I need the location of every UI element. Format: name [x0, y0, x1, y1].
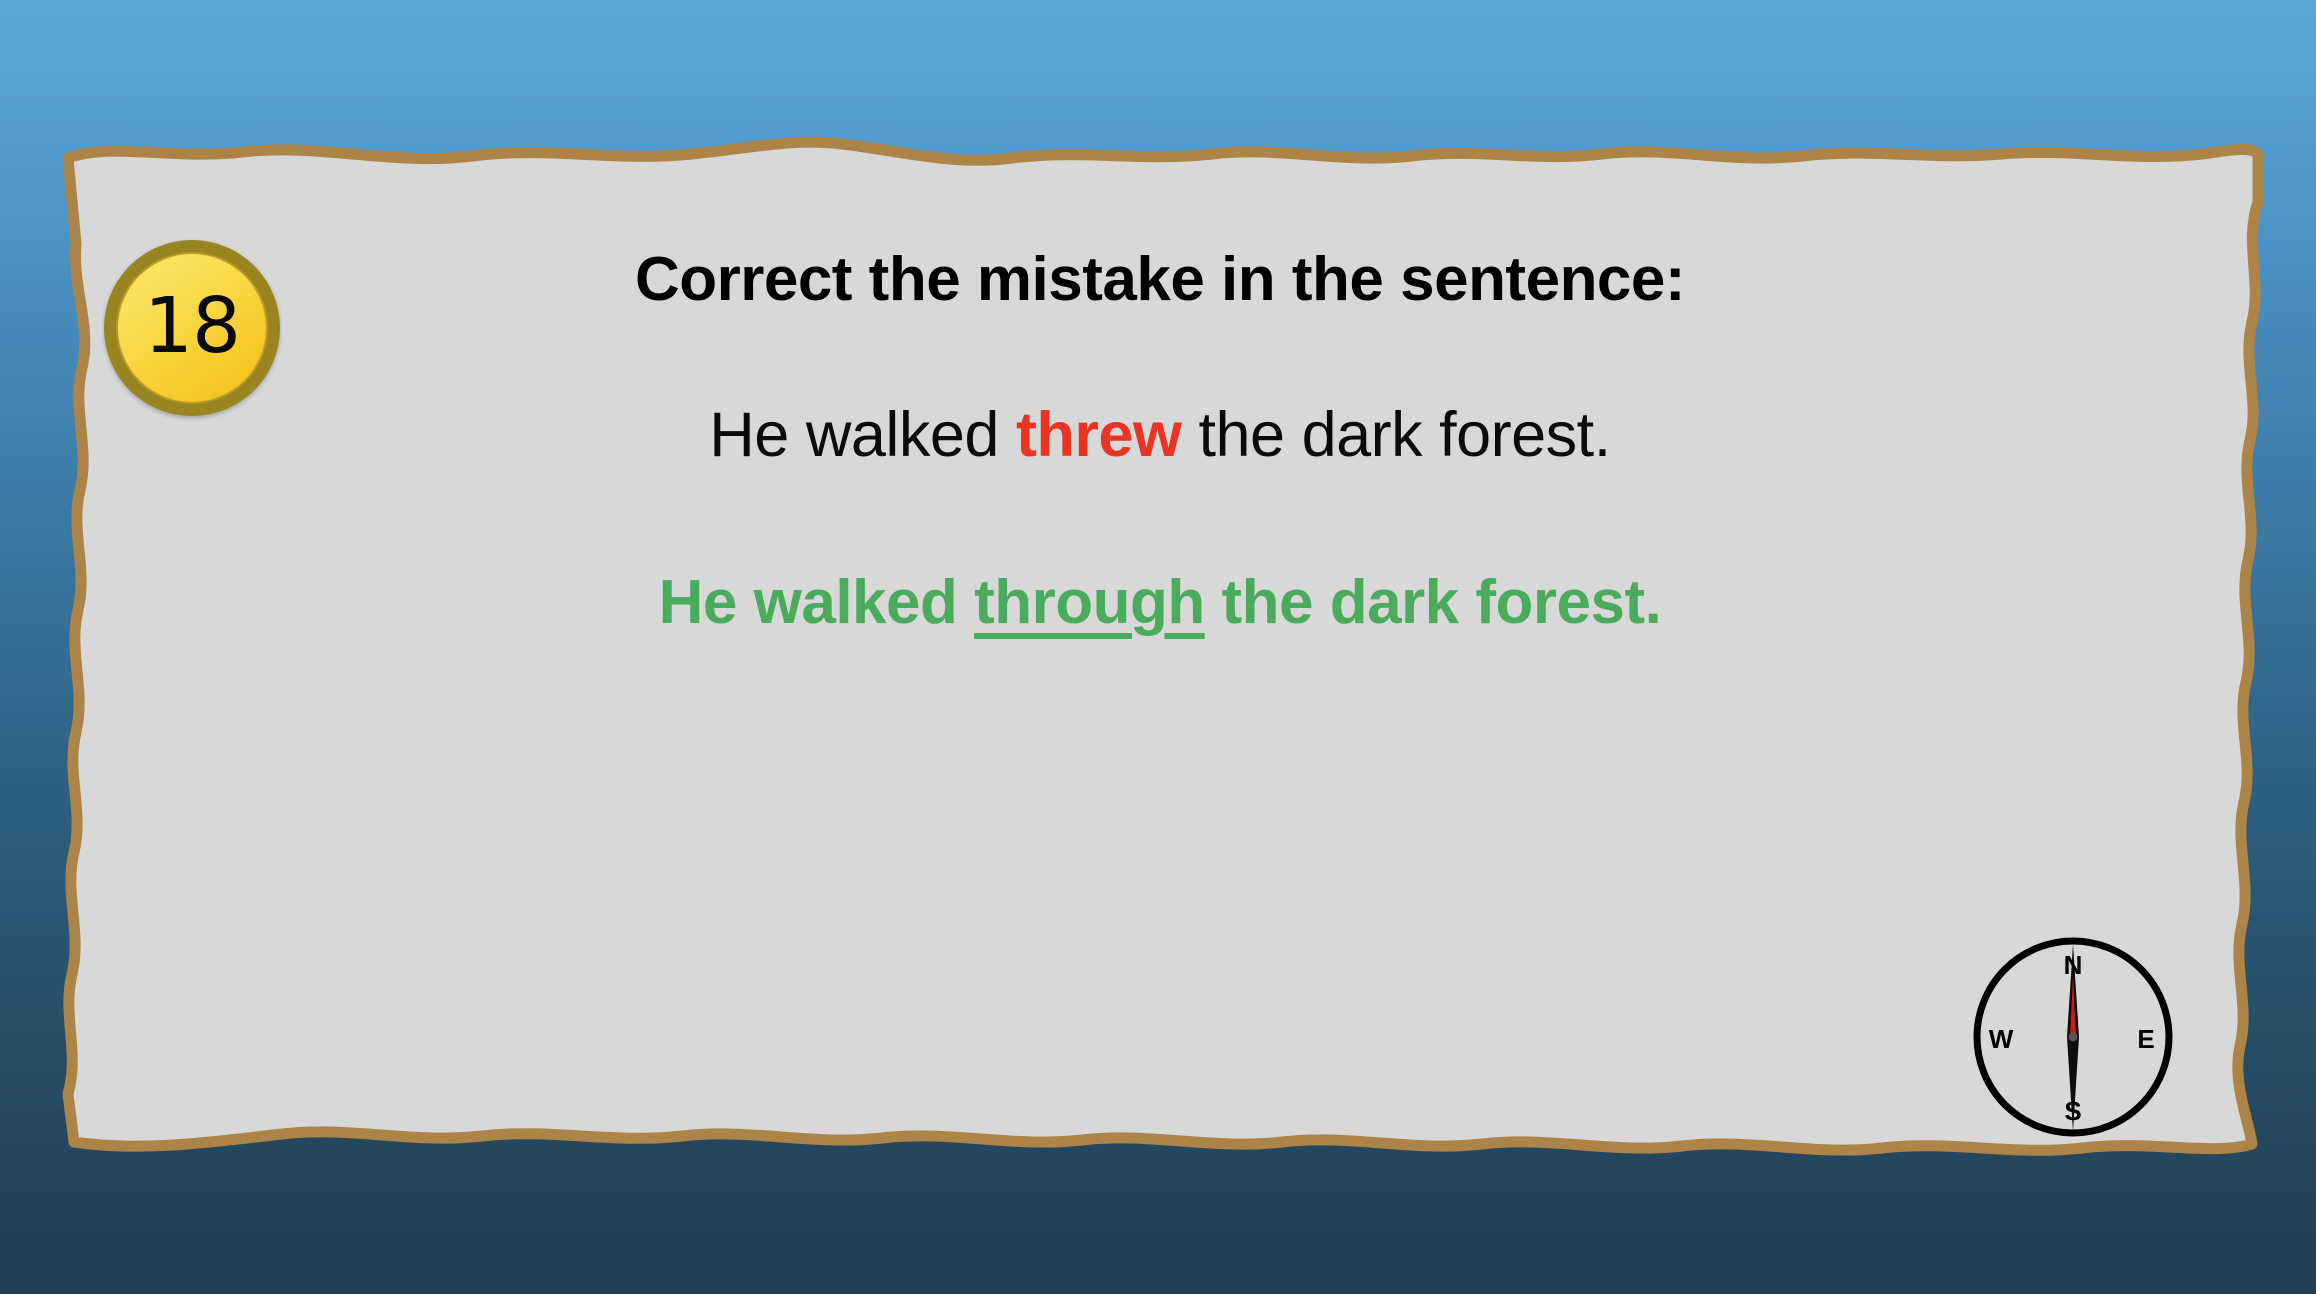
- corrected-sentence-after: the dark forest.: [1205, 568, 1662, 637]
- incorrect-word: threw: [1016, 400, 1182, 470]
- compass-label-west: W: [1989, 1024, 2014, 1054]
- compass-label-south: S: [2064, 1096, 2081, 1126]
- question-text-block: Correct the mistake in the sentence: He …: [52, 244, 2268, 638]
- corrected-sentence-before: He walked: [659, 568, 974, 637]
- corrected-word: through: [974, 568, 1205, 637]
- corrected-sentence: He walked through the dark forest.: [172, 567, 2148, 638]
- compass-label-north: N: [2064, 950, 2083, 980]
- compass-rose-icon: N E S W: [1966, 930, 2180, 1144]
- incorrect-sentence: He walked threw the dark forest.: [172, 399, 2148, 471]
- prompt-text: Correct the mistake in the sentence:: [172, 244, 2148, 315]
- incorrect-sentence-after: the dark forest.: [1181, 400, 1610, 470]
- incorrect-sentence-before: He walked: [709, 400, 1016, 470]
- compass-label-east: E: [2137, 1024, 2154, 1054]
- question-card: 18 Correct the mistake in the sentence: …: [52, 132, 2268, 1168]
